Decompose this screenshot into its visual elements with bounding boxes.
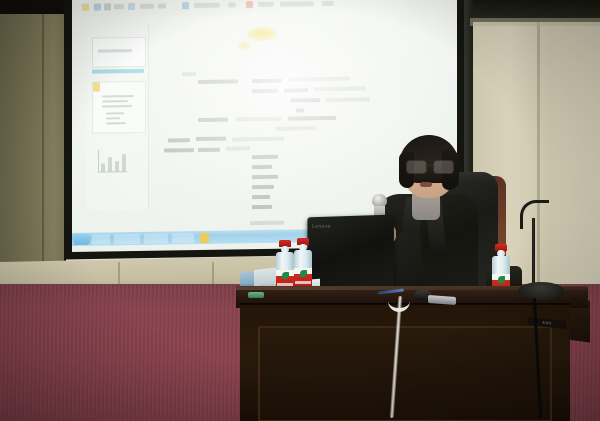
lens-left	[406, 160, 427, 174]
panel-text-line	[106, 122, 126, 124]
toolbar-icon[interactable]	[246, 1, 253, 8]
slide-text-line	[198, 79, 238, 84]
toolbar-icon[interactable]	[82, 4, 89, 11]
desk-plaque-text: 主席台	[542, 320, 552, 325]
slide-highlight-blob-2	[238, 41, 250, 50]
toolbar-label[interactable]	[114, 4, 124, 9]
panel-chart-bar	[122, 154, 126, 171]
slide-text-line	[290, 98, 320, 102]
bottle-leaf-icon	[282, 272, 289, 279]
panel-highlight-icon	[93, 83, 100, 92]
slide-text-line	[252, 185, 274, 189]
slide-text-line	[252, 195, 270, 199]
slide-text-line	[252, 155, 278, 159]
slide-text-line	[236, 117, 282, 122]
mic-stand-pole	[532, 218, 535, 288]
taskbar-window-button[interactable]	[172, 233, 194, 243]
microphone-head-icon	[372, 194, 387, 206]
bottle-label-text	[295, 281, 311, 284]
laptop-brand-logo: Lenovo	[312, 224, 331, 230]
toolbar-label[interactable]	[140, 4, 154, 9]
toolbar-icon[interactable]	[104, 3, 111, 10]
right-wall-trim	[470, 18, 600, 26]
toolbar-label[interactable]	[228, 2, 236, 7]
start-button-icon[interactable]	[74, 234, 90, 245]
eyeglasses	[406, 160, 454, 172]
slide-text-line	[296, 108, 304, 112]
slide-text-line	[250, 221, 284, 226]
slide-text-line	[288, 116, 336, 121]
bottle-leaf-icon	[498, 276, 505, 283]
glasses-bridge	[425, 165, 433, 166]
slide-highlight-blob	[247, 27, 277, 41]
slide-text-line	[252, 89, 278, 93]
slide-text-line	[252, 175, 278, 179]
slide-text-line	[252, 205, 272, 209]
panel-accent-bar	[92, 69, 144, 74]
bottle-leaf-icon	[300, 270, 307, 277]
toolbar-icon[interactable]	[182, 2, 189, 9]
slide-text-line	[168, 138, 190, 142]
taskbar-window-button[interactable]	[114, 234, 140, 244]
panel-chart-bar	[115, 161, 119, 171]
green-desk-item[interactable]	[248, 292, 264, 298]
slide-text-line	[198, 148, 220, 152]
toolbar-label[interactable]	[322, 1, 334, 6]
slide-text-line	[276, 126, 316, 131]
podium-front-panel	[258, 326, 552, 421]
panel-mini-chart	[98, 149, 127, 172]
taskbar-window-button[interactable]	[92, 234, 110, 244]
slide-text-line	[252, 165, 272, 169]
taskbar-tray-icon[interactable]	[200, 233, 209, 243]
panel-text-line	[102, 100, 128, 102]
toolbar-icon[interactable]	[94, 4, 101, 11]
slide-text-line	[164, 148, 194, 152]
taskbar-window-button[interactable]	[144, 233, 168, 243]
panel-text-line	[106, 112, 124, 114]
toolbar-label[interactable]	[194, 3, 220, 8]
toolbar-icon[interactable]	[128, 3, 135, 10]
slide-text-line	[288, 77, 350, 82]
slide-text-line	[198, 118, 228, 122]
slide-text-line	[314, 86, 366, 91]
panel-chart-bar	[101, 163, 105, 171]
presenter-mouth	[420, 182, 432, 187]
slide-text-line	[182, 72, 196, 76]
lens-right	[433, 160, 454, 174]
slide-text-line	[326, 97, 370, 102]
toolbar-label[interactable]	[280, 1, 314, 7]
slide-text-line	[196, 137, 226, 141]
toolbar-label[interactable]	[158, 4, 166, 9]
panel-text-line	[106, 117, 120, 119]
slide-text-line	[284, 88, 308, 92]
panel-card-title-line	[98, 49, 132, 53]
right-wall-seam	[537, 22, 540, 322]
slide-text-line	[252, 79, 282, 83]
slide-text-line	[232, 137, 284, 142]
toolbar-label[interactable]	[258, 2, 274, 7]
slide-text-line	[226, 146, 250, 150]
panel-chart-bar	[108, 157, 112, 171]
mic-stand-base[interactable]	[518, 282, 564, 300]
lecture-hall-photo: Lenovo 主席台	[0, 0, 600, 421]
